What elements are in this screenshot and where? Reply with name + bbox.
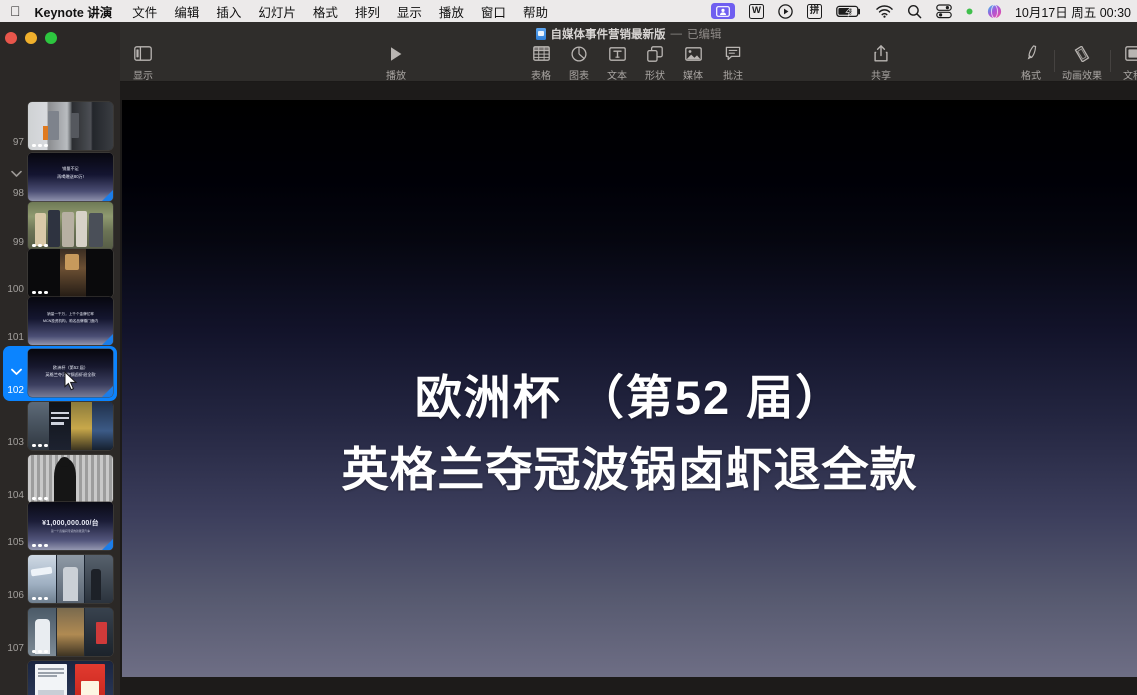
- thumb-corner-marker: [102, 386, 113, 397]
- thumb-corner-marker: [102, 539, 113, 550]
- input-method-icon[interactable]: 拼: [807, 4, 822, 19]
- thumb-text-105-sub: 第一个直播间带货的新能源汽车: [28, 529, 113, 533]
- toolbar-label-play: 播放: [386, 67, 406, 82]
- toolbar-label-text: 文本: [607, 67, 627, 82]
- toolbar-button-format[interactable]: 格式: [1008, 44, 1054, 82]
- keynote-window: 97 98 销量不足 再喝赠送80万! 99: [0, 22, 1137, 695]
- format-brush-icon: [1024, 44, 1038, 63]
- wechat-work-glyph: W: [749, 4, 764, 19]
- slide-thumb-image-106[interactable]: [28, 555, 113, 603]
- text-box-icon: [609, 44, 626, 63]
- thumb-dots: [32, 497, 48, 501]
- slide-thumb-image-103[interactable]: [28, 402, 113, 450]
- menu-bar:  Keynote 讲演 文件 编辑 插入 幻灯片 格式 排列 显示 播放 窗口…: [0, 0, 1137, 22]
- document-name[interactable]: 自媒体事件营销最新版: [551, 26, 666, 42]
- toolbar-label-media: 媒体: [683, 67, 703, 82]
- play-circle-icon[interactable]: [778, 4, 793, 19]
- menu-app-name[interactable]: Keynote 讲演: [35, 2, 113, 21]
- media-image-icon: [685, 44, 702, 63]
- menu-item-window[interactable]: 窗口: [481, 2, 506, 21]
- toolbar-label-animate: 动画效果: [1062, 67, 1102, 82]
- thumb-corner-marker: [102, 334, 113, 345]
- menu-item-help[interactable]: 帮助: [523, 2, 548, 21]
- menu-item-slide[interactable]: 幻灯片: [258, 2, 296, 21]
- toolbar-label-format: 格式: [1021, 67, 1041, 82]
- document-panel-icon: [1125, 44, 1137, 63]
- chevron-down-icon-102[interactable]: [10, 365, 23, 378]
- menu-item-view[interactable]: 显示: [397, 2, 422, 21]
- menubar-clock[interactable]: 10月17日 周五 00:30: [1015, 2, 1131, 21]
- thumb-text-98-l1: 销量不足: [28, 166, 113, 172]
- apple-logo-icon[interactable]: : [10, 4, 21, 18]
- thumb-dots: [32, 144, 48, 148]
- toolbar-label-chart: 图表: [569, 67, 589, 82]
- slide-thumb-99[interactable]: 99: [0, 202, 120, 250]
- toolbar-button-share[interactable]: 共享: [858, 44, 904, 82]
- slide-number-105: 105: [0, 537, 28, 548]
- close-button[interactable]: [5, 32, 17, 44]
- menu-item-play[interactable]: 播放: [439, 2, 464, 21]
- slide-number-102: 102: [0, 385, 28, 396]
- slide-thumb-98[interactable]: 98 销量不足 再喝赠送80万!: [0, 153, 120, 201]
- title-separator: —: [671, 28, 683, 40]
- thumb-dots: [32, 244, 48, 248]
- document-title-bar: 自媒体事件营销最新版 — 已编辑: [120, 26, 1137, 42]
- slide-number-97: 97: [0, 137, 28, 148]
- current-slide[interactable]: 欧洲杯 （第52 届） 英格兰夺冠波锅卤虾退全款: [122, 100, 1137, 677]
- animate-diamond-icon: [1073, 44, 1091, 63]
- slide-thumb-image-101[interactable]: 销量一千万，上千个金牌亿率 MCN投资机构，助名品牌撬门造内: [28, 297, 113, 345]
- thumb-text-98-l2: 再喝赠送80万!: [28, 174, 113, 180]
- slide-number-107: 107: [0, 643, 28, 654]
- wechat-work-icon[interactable]: W: [749, 4, 764, 19]
- slide-number-104: 104: [0, 490, 28, 501]
- slide-thumb-image-104[interactable]: [28, 455, 113, 503]
- slide-thumb-image-108[interactable]: [28, 661, 113, 695]
- toolbar-label-shapes: 形状: [645, 67, 665, 82]
- toolbar-button-animate[interactable]: 动画效果: [1054, 44, 1110, 82]
- share-upload-icon: [874, 44, 888, 63]
- toolbar-label-table: 表格: [531, 67, 551, 82]
- zoom-button[interactable]: [45, 32, 57, 44]
- toolbar-button-view[interactable]: 显示: [120, 44, 166, 82]
- slide-number-99: 99: [0, 237, 28, 248]
- slide-thumb-97[interactable]: 97: [0, 102, 120, 150]
- slide-thumb-image-99[interactable]: [28, 202, 113, 250]
- menu-item-insert[interactable]: 插入: [216, 2, 241, 21]
- view-panel-icon: [134, 44, 152, 63]
- slide-thumb-100[interactable]: 100: [0, 249, 120, 297]
- slide-number-106: 106: [0, 590, 28, 601]
- status-green-dot: [966, 8, 973, 15]
- slide-thumb-image-98[interactable]: 销量不足 再喝赠送80万!: [28, 153, 113, 201]
- wifi-icon[interactable]: [876, 5, 893, 18]
- menu-item-arrange[interactable]: 排列: [355, 2, 380, 21]
- search-icon[interactable]: [907, 4, 922, 19]
- keynote-document-icon: [536, 28, 546, 40]
- siri-icon[interactable]: [987, 4, 1002, 19]
- screen-share-icon[interactable]: [711, 3, 735, 19]
- thumb-text-102-l2: 英格兰夺冠波锅卤虾退全款: [28, 372, 113, 378]
- slide-thumb-106[interactable]: 106: [0, 555, 120, 603]
- slide-thumb-image-100[interactable]: [28, 249, 113, 297]
- slide-thumb-102[interactable]: 102 欧洲杯（第52 届） 英格兰夺冠波锅卤虾退全款: [0, 345, 120, 401]
- toolbar-label-document: 文稿: [1123, 67, 1137, 82]
- slide-number-98: 98: [0, 188, 28, 199]
- chevron-down-icon-98[interactable]: [10, 167, 23, 180]
- slide-number-103: 103: [0, 437, 28, 448]
- slide-thumb-104[interactable]: 104: [0, 455, 120, 503]
- thumb-text-105-price: ¥1,000,000.00/台: [28, 519, 113, 529]
- document-edit-state: 已编辑: [687, 26, 722, 42]
- toolbar-label-comment: 批注: [723, 67, 743, 82]
- slide-thumb-105[interactable]: 105 ¥1,000,000.00/台 第一个直播间带货的新能源汽车: [0, 502, 120, 550]
- minimize-button[interactable]: [25, 32, 37, 44]
- toolbar-label-view: 显示: [133, 67, 153, 82]
- slide-number-100: 100: [0, 284, 28, 295]
- battery-charging-icon[interactable]: [836, 5, 862, 18]
- thumb-dots: [32, 544, 48, 548]
- slide-thumb-101[interactable]: 101 销量一千万，上千个金牌亿率 MCN投资机构，助名品牌撬门造内: [0, 297, 120, 345]
- thumb-dots: [32, 650, 48, 654]
- slide-thumb-108[interactable]: 108: [0, 661, 120, 695]
- slide-title-line2: 英格兰夺冠波锅卤虾退全款: [122, 438, 1137, 501]
- thumb-dots: [32, 597, 48, 601]
- thumb-dots: [32, 291, 48, 295]
- thumb-corner-marker: [102, 190, 113, 201]
- control-center-icon[interactable]: [936, 4, 952, 19]
- menu-item-format[interactable]: 格式: [313, 2, 338, 21]
- shapes-icon: [647, 44, 663, 63]
- toolbar-label-share: 共享: [871, 67, 891, 82]
- toolbar-button-play[interactable]: 播放: [373, 44, 419, 82]
- comment-icon: [725, 44, 741, 63]
- slide-thumb-103[interactable]: 103: [0, 402, 120, 450]
- chart-pie-icon: [571, 44, 587, 63]
- toolbar-button-document[interactable]: 文稿: [1110, 44, 1137, 82]
- window-controls: [5, 32, 57, 44]
- menu-item-edit[interactable]: 编辑: [174, 2, 199, 21]
- toolbar-button-comment[interactable]: 批注: [710, 44, 756, 82]
- table-icon: [533, 44, 550, 63]
- menu-item-file[interactable]: 文件: [132, 2, 157, 21]
- slide-thumb-107[interactable]: 107: [0, 608, 120, 656]
- slide-navigator[interactable]: 97 98 销量不足 再喝赠送80万! 99: [0, 22, 120, 695]
- slide-thumb-image-105[interactable]: ¥1,000,000.00/台 第一个直播间带货的新能源汽车: [28, 502, 113, 550]
- slide-thumb-image-107[interactable]: [28, 608, 113, 656]
- thumb-text-101-l2: MCN投资机构，助名品牌撬门造内: [28, 319, 113, 324]
- slide-title-line1: 欧洲杯 （第52 届）: [122, 368, 1137, 428]
- slide-thumb-image-97[interactable]: [28, 102, 113, 150]
- thumb-text-101-l1: 销量一千万，上千个金牌亿率: [28, 312, 113, 317]
- slide-title-textbox[interactable]: 欧洲杯 （第52 届） 英格兰夺冠波锅卤虾退全款: [122, 368, 1137, 502]
- input-method-glyph: 拼: [807, 4, 822, 19]
- thumb-text-102-l1: 欧洲杯（第52 届）: [28, 365, 113, 371]
- slide-number-101: 101: [0, 332, 28, 343]
- thumb-dots: [32, 444, 48, 448]
- slide-canvas-area[interactable]: 欧洲杯 （第52 届） 英格兰夺冠波锅卤虾退全款: [120, 82, 1137, 695]
- toolbar: 自媒体事件营销最新版 — 已编辑 显示 播放 表格: [120, 22, 1137, 82]
- play-triangle-icon: [389, 44, 403, 63]
- slide-thumb-image-102[interactable]: 欧洲杯（第52 届） 英格兰夺冠波锅卤虾退全款: [28, 349, 113, 397]
